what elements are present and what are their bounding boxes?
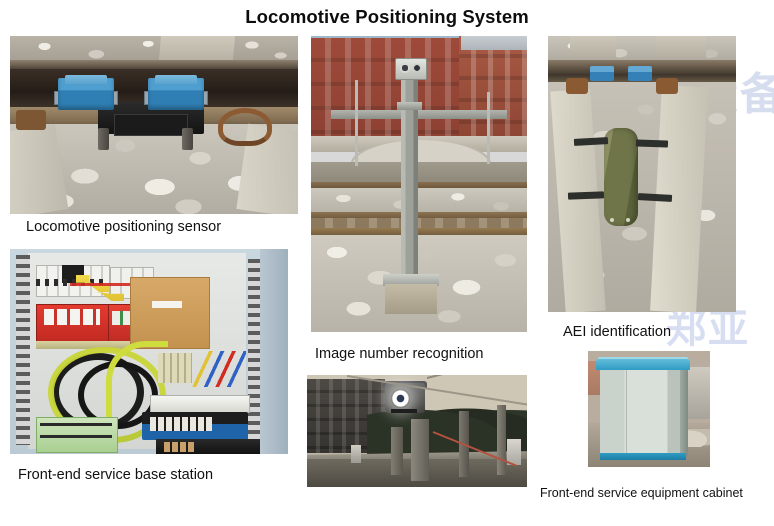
page-title: Locomotive Positioning System: [0, 6, 774, 28]
slide-canvas: Locomotive Positioning System 设备 郑亚 Loco…: [0, 0, 774, 526]
support-post-right: [497, 405, 506, 475]
support-post-left: [391, 427, 403, 475]
concrete-sleeper-far-left: [570, 36, 616, 58]
rail-fastening-clip-left: [16, 110, 46, 130]
cabinet-side-panel: [680, 369, 688, 457]
antenna-mount-bar-bottom-left: [568, 191, 604, 199]
green-terminal-contacts: [40, 423, 112, 447]
distant-building: [461, 36, 527, 50]
mast-collar: [397, 102, 422, 110]
photo-night-camera: [307, 375, 527, 487]
cabinet-door-seam: [626, 367, 627, 457]
ethernet-port-row: [150, 417, 212, 431]
rail-fastening-clip-right: [656, 78, 678, 94]
blue-sensor-box-left-top: [65, 75, 107, 84]
din-rail-left: [16, 255, 30, 445]
camera-lens-slot: [391, 409, 417, 413]
brick-building-right: [459, 36, 527, 136]
concrete-sleeper-far-right: [656, 36, 706, 58]
camera-illuminator-light: [391, 389, 410, 408]
blue-sensor-box-left: [590, 66, 614, 81]
caption-aei-identification: AEI identification: [563, 324, 671, 340]
background-pole-left: [355, 80, 358, 166]
caption-front-end-service-equipment-cabinet: Front-end service equipment cabinet: [540, 486, 743, 500]
cardboard-document: [130, 277, 210, 349]
photo-aei-identification: [548, 36, 736, 312]
caption-locomotive-positioning-sensor: Locomotive positioning sensor: [26, 219, 221, 235]
camera-lens-primary: [400, 63, 410, 73]
concrete-footing: [385, 284, 437, 314]
ballast-mid: [311, 188, 527, 214]
bracket-plate: [114, 114, 188, 136]
trackside-box-left: [351, 445, 361, 463]
patch-panel: [150, 395, 250, 413]
cabinet-body: [600, 365, 686, 459]
aei-antenna: [604, 128, 638, 226]
yard-ground: [311, 162, 527, 184]
ethernet-port-row-2: [164, 442, 194, 452]
ballast-upper: [10, 36, 298, 62]
camera-lens-secondary: [413, 64, 421, 72]
antenna-screw-right: [626, 218, 630, 222]
bracket-bolt-right: [182, 128, 193, 150]
photo-locomotive-positioning-sensor: [10, 36, 298, 214]
camera-post: [411, 419, 429, 481]
blue-sensor-box-right: [628, 66, 652, 81]
cabinet-roof-blue-trim: [596, 359, 690, 370]
document-label: [152, 301, 182, 308]
control-wiring-bundle: [186, 351, 246, 387]
photo-front-end-service-base-station: [10, 249, 288, 454]
antenna-screw-left: [610, 218, 614, 222]
photo-image-number-recognition: [311, 36, 527, 332]
background-object-right: [688, 367, 710, 419]
rail-fastening-clip-right: [218, 108, 272, 146]
caption-front-end-service-base-station: Front-end service base station: [18, 467, 213, 483]
caption-image-number-recognition: Image number recognition: [315, 346, 483, 362]
cabinet-door-edge: [260, 249, 288, 454]
antenna-mount-bar-top-right: [636, 139, 668, 147]
blue-sensor-box-right-top: [155, 75, 197, 84]
rail-head: [10, 60, 298, 69]
background-pole-right: [487, 92, 490, 164]
cabinet-base-blue-trim: [600, 453, 686, 460]
rail-fastening-clip-left: [566, 78, 588, 94]
bracket-bolt-left: [98, 128, 109, 150]
concrete-sleeper-far: [159, 36, 235, 60]
photo-front-end-service-equipment-cabinet: [588, 351, 710, 467]
